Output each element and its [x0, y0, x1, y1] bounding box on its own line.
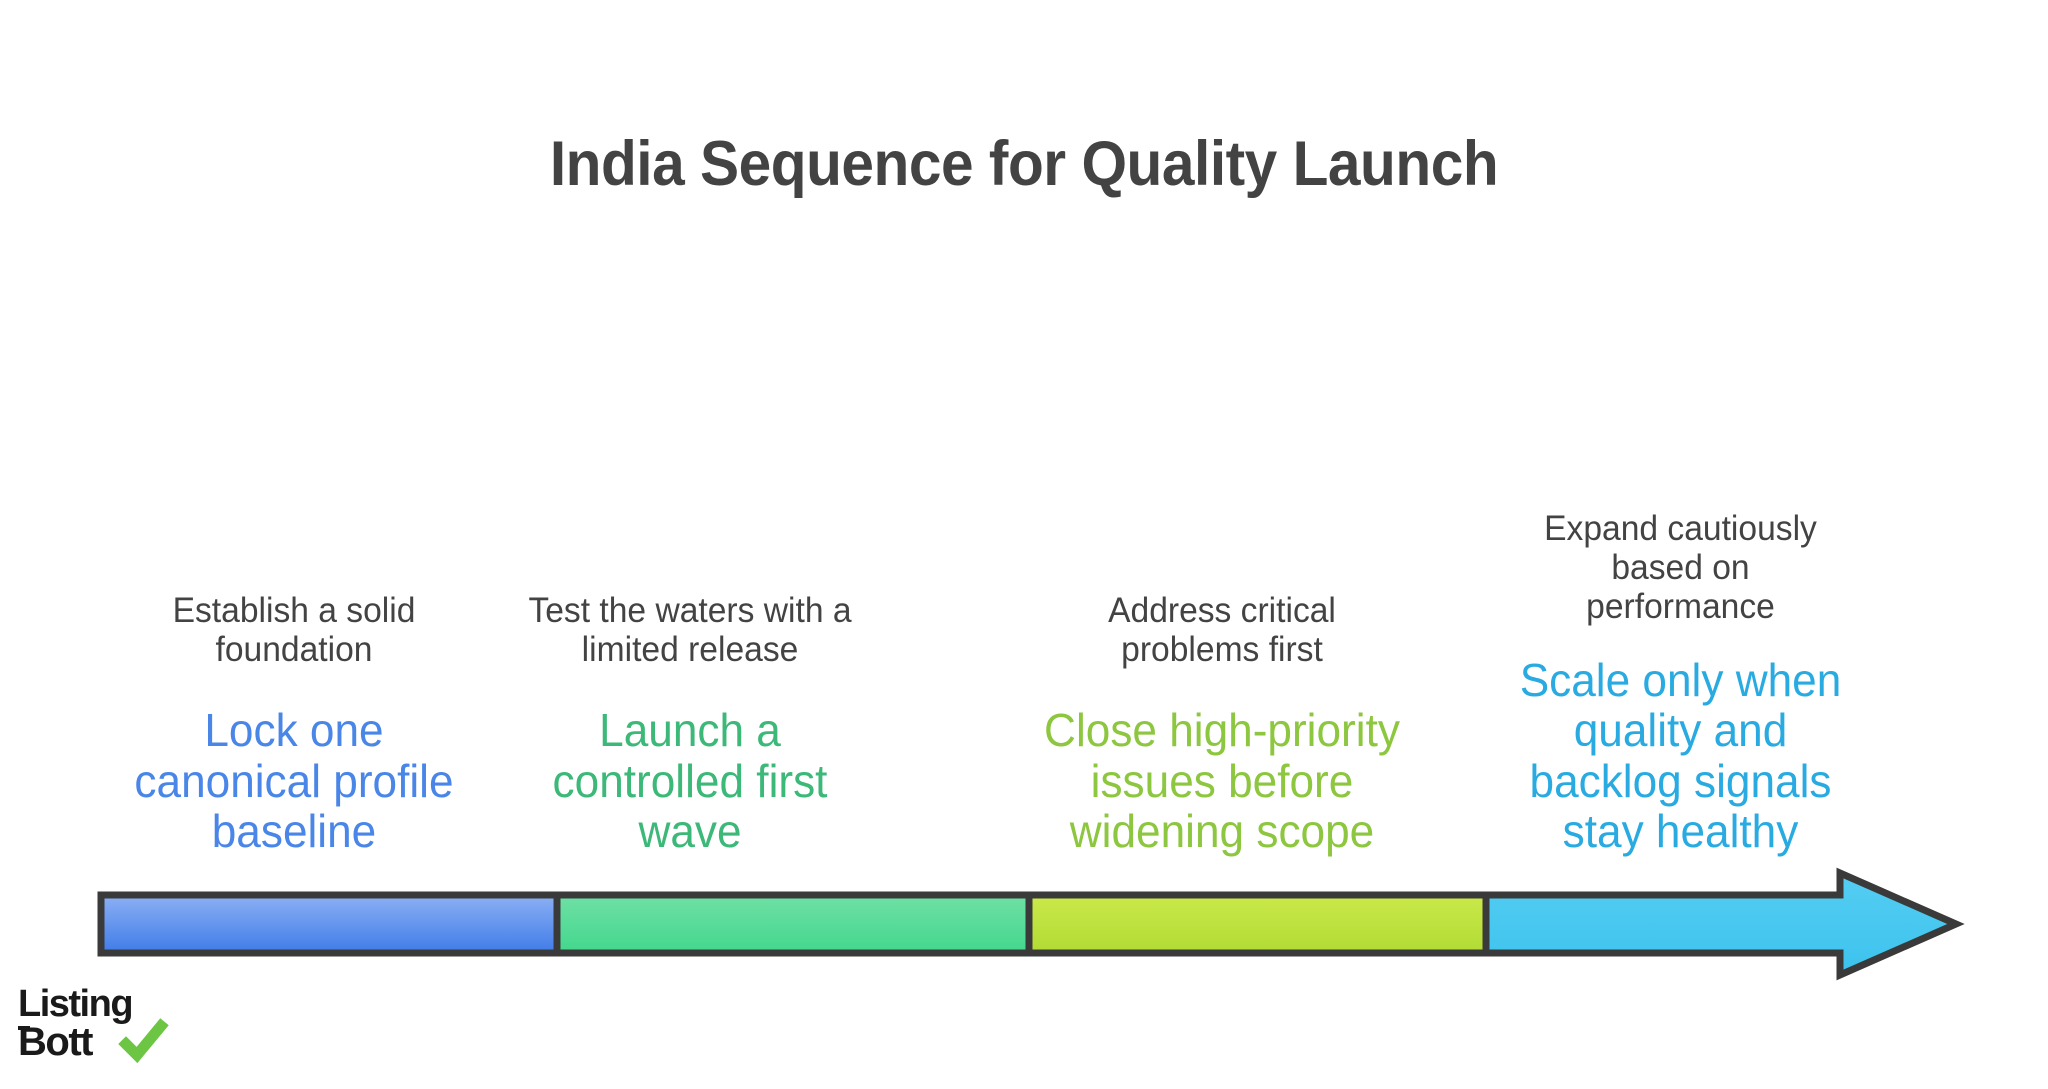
logo-bar-accent	[18, 1026, 30, 1030]
progress-arrow-svg	[98, 890, 1960, 960]
stage-column-4: Expand cautiously based on performance S…	[1508, 509, 1853, 857]
stage-caption-1: Establish a solid foundation	[112, 591, 477, 669]
arrow-segment-2	[557, 895, 1029, 953]
stage-caption-2: Test the waters with a limited release	[508, 591, 873, 669]
page-title: India Sequence for Quality Launch	[72, 128, 1977, 200]
stage-headline-2: Launch a controlled first wave	[508, 705, 873, 857]
stage-column-2: Test the waters with a limited release L…	[500, 591, 880, 857]
stage-headline-1: Lock one canonical profile baseline	[112, 705, 477, 857]
arrow-segment-3	[1029, 895, 1486, 953]
progress-arrow	[98, 890, 1960, 960]
stage-caption-4: Expand cautiously based on performance	[1515, 509, 1846, 627]
stage-headline-3: Close high-priority issues before wideni…	[1040, 705, 1405, 857]
stage-headline-4: Scale only when quality and backlog sign…	[1515, 655, 1846, 857]
logo-text-listing: Listing	[18, 983, 132, 1025]
logo-mark: Listing Bott	[18, 982, 238, 1066]
listingbott-logo: Listing Bott	[18, 982, 238, 1066]
stage-caption-3: Address critical problems first	[1040, 591, 1405, 669]
infographic-canvas: India Sequence for Quality Launch Establ…	[0, 0, 2048, 1089]
arrow-segment-1	[101, 895, 557, 953]
arrow-segment-4-head	[1486, 873, 1956, 975]
stage-column-3: Address critical problems first Close hi…	[1032, 591, 1412, 857]
check-icon	[126, 1026, 161, 1055]
stage-column-1: Establish a solid foundation Lock one ca…	[104, 591, 484, 857]
